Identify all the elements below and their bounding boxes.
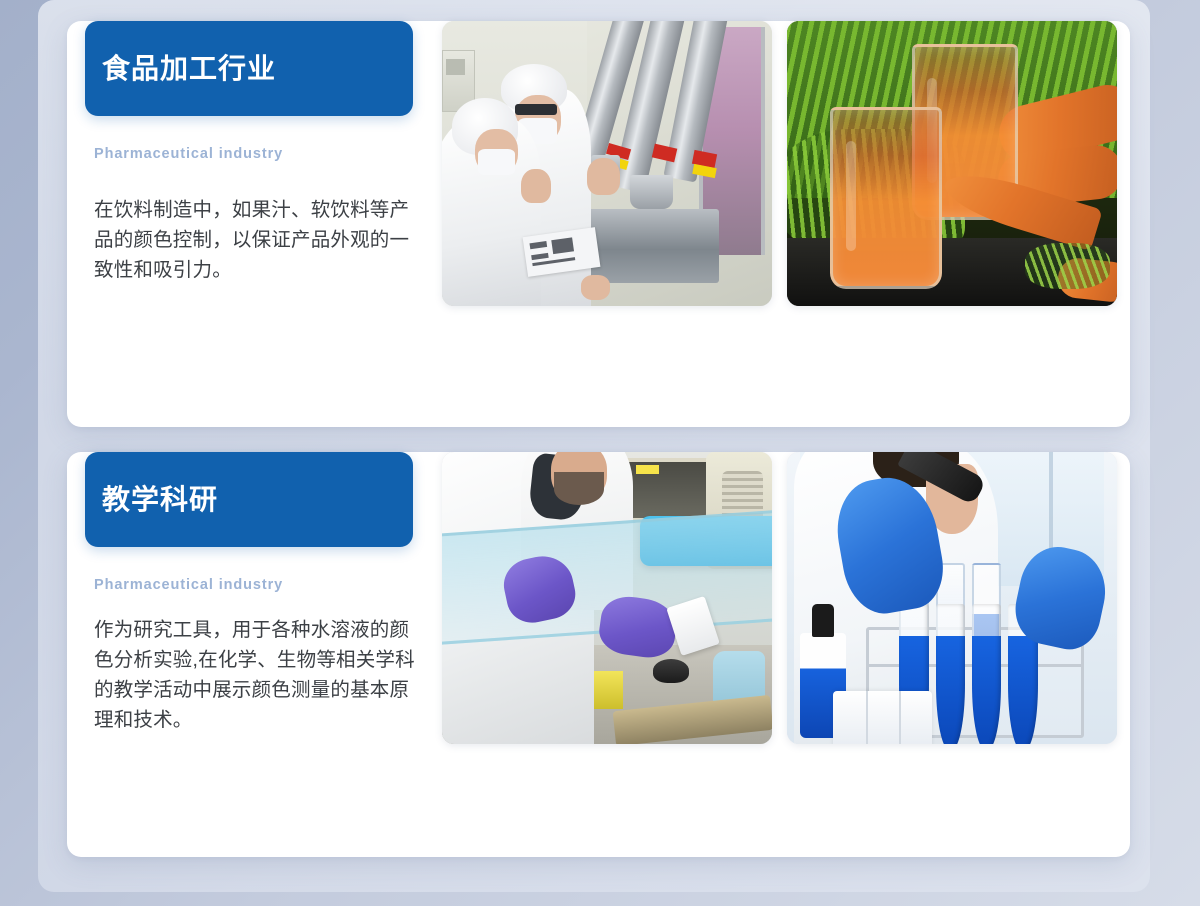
card-photo <box>442 452 772 744</box>
blue-test-tubes-photo <box>787 452 1117 744</box>
card-text-column: 教学科研 Pharmaceutical industry 作为研究工具，用于各种… <box>67 452 442 735</box>
card-photo <box>787 452 1117 744</box>
card-subtitle: Pharmaceutical industry <box>85 146 442 162</box>
scenario-card: 食品加工行业 Pharmaceutical industry 在饮料制造中，如果… <box>67 21 1130 427</box>
card-image-column <box>442 452 1130 744</box>
card-title-label: 食品加工行业 <box>102 55 276 83</box>
food-processing-plant-photo <box>442 21 772 306</box>
lab-researcher-photo <box>442 452 772 744</box>
card-title-label: 教学科研 <box>102 486 218 514</box>
card-subtitle: Pharmaceutical industry <box>85 577 442 593</box>
card-text-column: 食品加工行业 Pharmaceutical industry 在饮料制造中，如果… <box>67 21 442 285</box>
card-body-text: 作为研究工具，用于各种水溶液的颜色分析实验,在化学、生物等相关学科的教学活动中展… <box>85 615 415 735</box>
card-body-text: 在饮料制造中，如果汁、软饮料等产品的颜色控制，以保证产品外观的一致性和吸引力。 <box>85 195 415 285</box>
card-title-badge[interactable]: 教学科研 <box>85 452 413 547</box>
card-photo <box>787 21 1117 306</box>
card-title-badge[interactable]: 食品加工行业 <box>85 21 413 116</box>
card-photo <box>442 21 772 306</box>
card-image-column <box>442 21 1130 306</box>
carrot-juice-photo <box>787 21 1117 306</box>
scenario-card: 教学科研 Pharmaceutical industry 作为研究工具，用于各种… <box>67 452 1130 857</box>
